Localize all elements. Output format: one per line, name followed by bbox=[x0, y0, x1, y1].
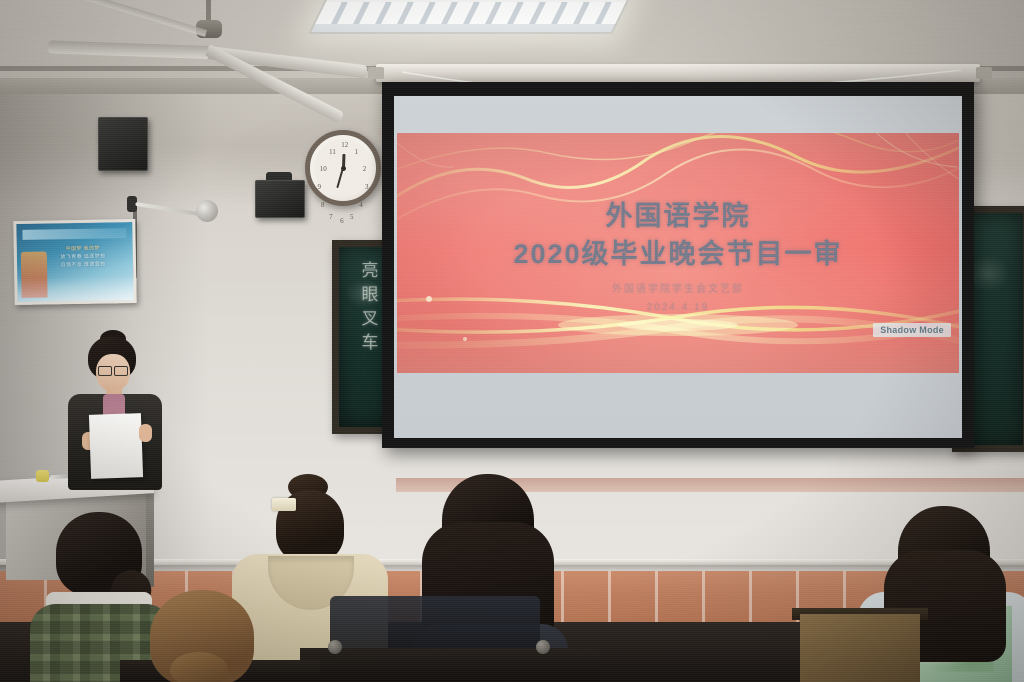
clock-numeral: 11 bbox=[329, 148, 336, 156]
wall-speaker-left bbox=[98, 117, 148, 171]
clock-numeral: 10 bbox=[320, 165, 327, 173]
clock-numeral: 5 bbox=[350, 213, 354, 221]
presenter bbox=[56, 336, 174, 486]
light-tubes bbox=[315, 2, 626, 24]
student-brown-bun bbox=[140, 590, 264, 682]
clock-center-pin bbox=[341, 166, 346, 171]
glasses-icon bbox=[98, 366, 128, 374]
clock-numeral: 3 bbox=[365, 183, 369, 191]
microphone-joint bbox=[196, 200, 218, 222]
student-hair-bun bbox=[170, 652, 228, 682]
blackboard-chalk-text: 亮眼叉车 bbox=[356, 261, 381, 357]
screen-case-end-right bbox=[976, 67, 992, 79]
screen-case-end-left bbox=[368, 67, 384, 79]
front-desk bbox=[300, 648, 600, 682]
wooden-desk bbox=[800, 614, 920, 682]
poster-wave bbox=[17, 276, 133, 302]
clock-numeral: 8 bbox=[321, 201, 325, 209]
presentation-slide: 外国语学院 2020级毕业晚会节目一审 外国语学院学生会文艺部 2024.4.1… bbox=[397, 133, 959, 373]
clock-numeral: 9 bbox=[317, 183, 321, 191]
clock-numeral: 7 bbox=[329, 213, 333, 221]
clock-numeral: 12 bbox=[341, 141, 348, 149]
fluorescent-light-panel bbox=[308, 0, 632, 34]
clock-minute-hand bbox=[336, 168, 344, 189]
poster-text: 中国梦 我的梦 放飞青春 追逐梦想 自强不息 厚德载物 bbox=[43, 244, 123, 269]
wall-poster: 中国梦 我的梦 放飞青春 追逐梦想 自强不息 厚德载物 bbox=[13, 219, 136, 305]
shadow-mode-badge[interactable]: Shadow Mode bbox=[873, 323, 951, 337]
clock-numeral: 6 bbox=[340, 217, 344, 225]
clock-numeral: 4 bbox=[359, 201, 363, 209]
classroom-scene: 12 1 2 3 4 5 6 7 8 9 10 11 中国梦 我的梦 放飞青春 … bbox=[0, 0, 1024, 682]
clock-numeral: 2 bbox=[363, 165, 367, 173]
clock-face: 12 1 2 3 4 5 6 7 8 9 10 11 bbox=[314, 139, 372, 197]
presenter-hand-right bbox=[139, 424, 152, 442]
ceiling-fan-rod bbox=[206, 0, 211, 22]
presenter-paper bbox=[89, 413, 143, 479]
poster-line-3: 自强不息 厚德载物 bbox=[43, 260, 123, 269]
desk-knob bbox=[536, 640, 550, 654]
desk-knob bbox=[328, 640, 342, 654]
poster-header-band bbox=[22, 228, 126, 240]
podium-cup bbox=[36, 470, 49, 482]
chair-back bbox=[330, 596, 540, 652]
wall-speaker-right bbox=[255, 180, 305, 218]
wall-clock: 12 1 2 3 4 5 6 7 8 9 10 11 bbox=[305, 130, 381, 206]
slide-vignette bbox=[397, 133, 959, 373]
hair-clip-icon bbox=[272, 498, 296, 511]
clock-numeral: 1 bbox=[355, 148, 359, 156]
